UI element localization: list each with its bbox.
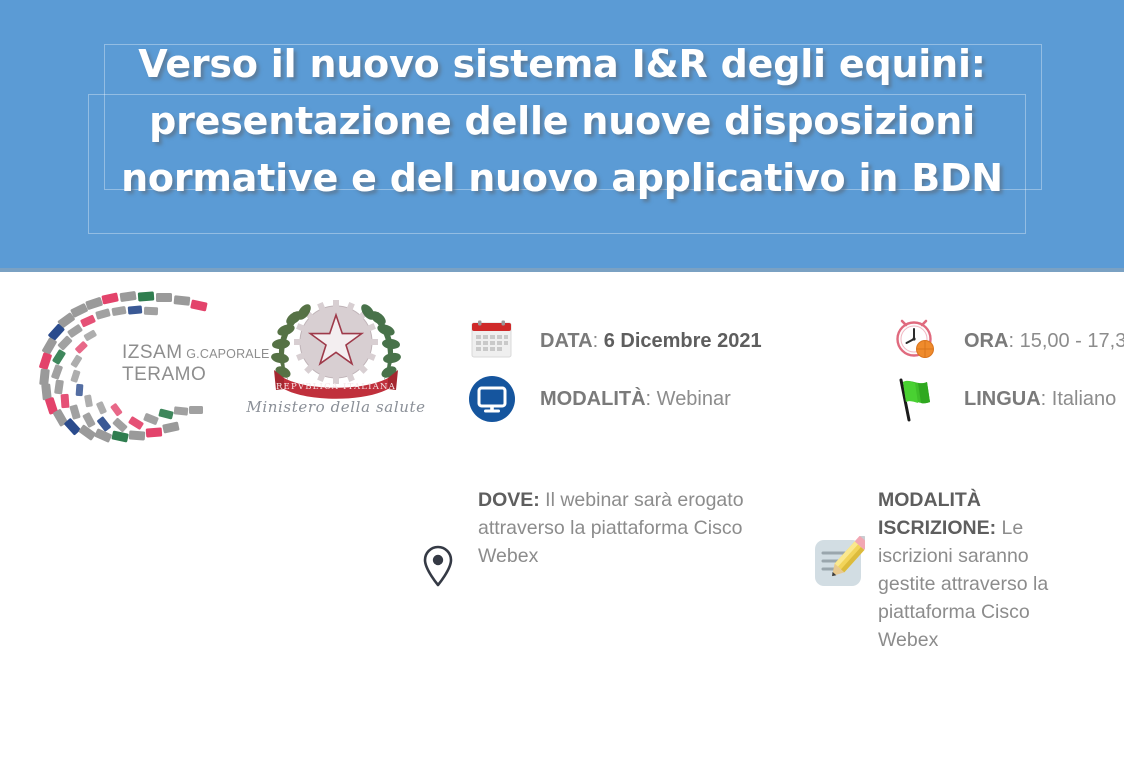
info-text-modalita: MODALITÀ: Webinar [540, 388, 731, 411]
info-value-lingua: Italiano [1052, 388, 1117, 410]
page-title: Verso il nuovo sistema I&R degli equini:… [0, 36, 1124, 207]
event-info-rows: DATA: 6 Dicembre 2021 [466, 312, 1116, 428]
info-text-data: DATA: 6 Dicembre 2021 [540, 330, 762, 353]
info-block-dove: DOVE: Il webinar sarà erogato attraverso… [410, 486, 810, 588]
svg-text:REPVBLICA ITALIANA: REPVBLICA ITALIANA [276, 382, 396, 392]
info-item-data: DATA: 6 Dicembre 2021 [466, 315, 890, 367]
memo-pencil-icon [810, 486, 866, 590]
ministry-logo: REPVBLICA ITALIANA Ministero della salut… [246, 290, 426, 450]
info-item-modalita: MODALITÀ: Webinar [466, 373, 890, 425]
info-value-data: 6 Dicembre 2021 [604, 330, 762, 352]
ministry-caption: Ministero della salute [246, 398, 426, 416]
header-bottom-divider [0, 268, 1124, 272]
info-label-ora: ORA [964, 330, 1008, 352]
info-label-modalita: MODALITÀ [540, 388, 646, 410]
info-item-lingua: LINGUA: Italiano [890, 373, 1116, 425]
info-block-text-iscrizione: MODALITÀ ISCRIZIONE: Le iscrizioni saran… [878, 486, 1083, 654]
info-text-ora: ORA: 15,00 - 17,30 [964, 330, 1124, 353]
event-poster: Verso il nuovo sistema I&R degli equini:… [0, 0, 1124, 757]
info-block-label-iscrizione: MODALITÀ ISCRIZIONE: [878, 489, 996, 539]
izsam-logo: IZSAM G.CAPORALE TERAMO [24, 288, 239, 453]
info-value-modalita: Webinar [657, 388, 731, 410]
info-item-ora: ORA: 15,00 - 17,30 [890, 315, 1116, 367]
calendar-icon [466, 315, 518, 367]
info-block-label-dove: DOVE: [478, 489, 540, 511]
info-row: DATA: 6 Dicembre 2021 [466, 312, 1116, 370]
info-block-text-dove: DOVE: Il webinar sarà erogato attraverso… [478, 486, 778, 570]
green-flag-icon [890, 373, 942, 425]
info-value-ora: 15,00 - 17,30 [1020, 330, 1124, 352]
info-label-lingua: LINGUA [964, 388, 1041, 410]
monitor-icon [466, 373, 518, 425]
info-block-iscrizione: MODALITÀ ISCRIZIONE: Le iscrizioni saran… [810, 486, 1110, 654]
izsam-name: IZSAM [122, 342, 183, 363]
alarm-clock-icon [890, 315, 942, 367]
logo-group: IZSAM G.CAPORALE TERAMO [18, 282, 428, 457]
header-banner: Verso il nuovo sistema I&R degli equini:… [0, 0, 1124, 272]
event-detail-blocks: DOVE: Il webinar sarà erogato attraverso… [410, 486, 1110, 654]
info-text-lingua: LINGUA: Italiano [964, 388, 1116, 411]
location-pin-icon [410, 486, 466, 588]
info-row: MODALITÀ: Webinar LINGUA: Italiano [466, 370, 1116, 428]
info-label-data: DATA [540, 330, 593, 352]
